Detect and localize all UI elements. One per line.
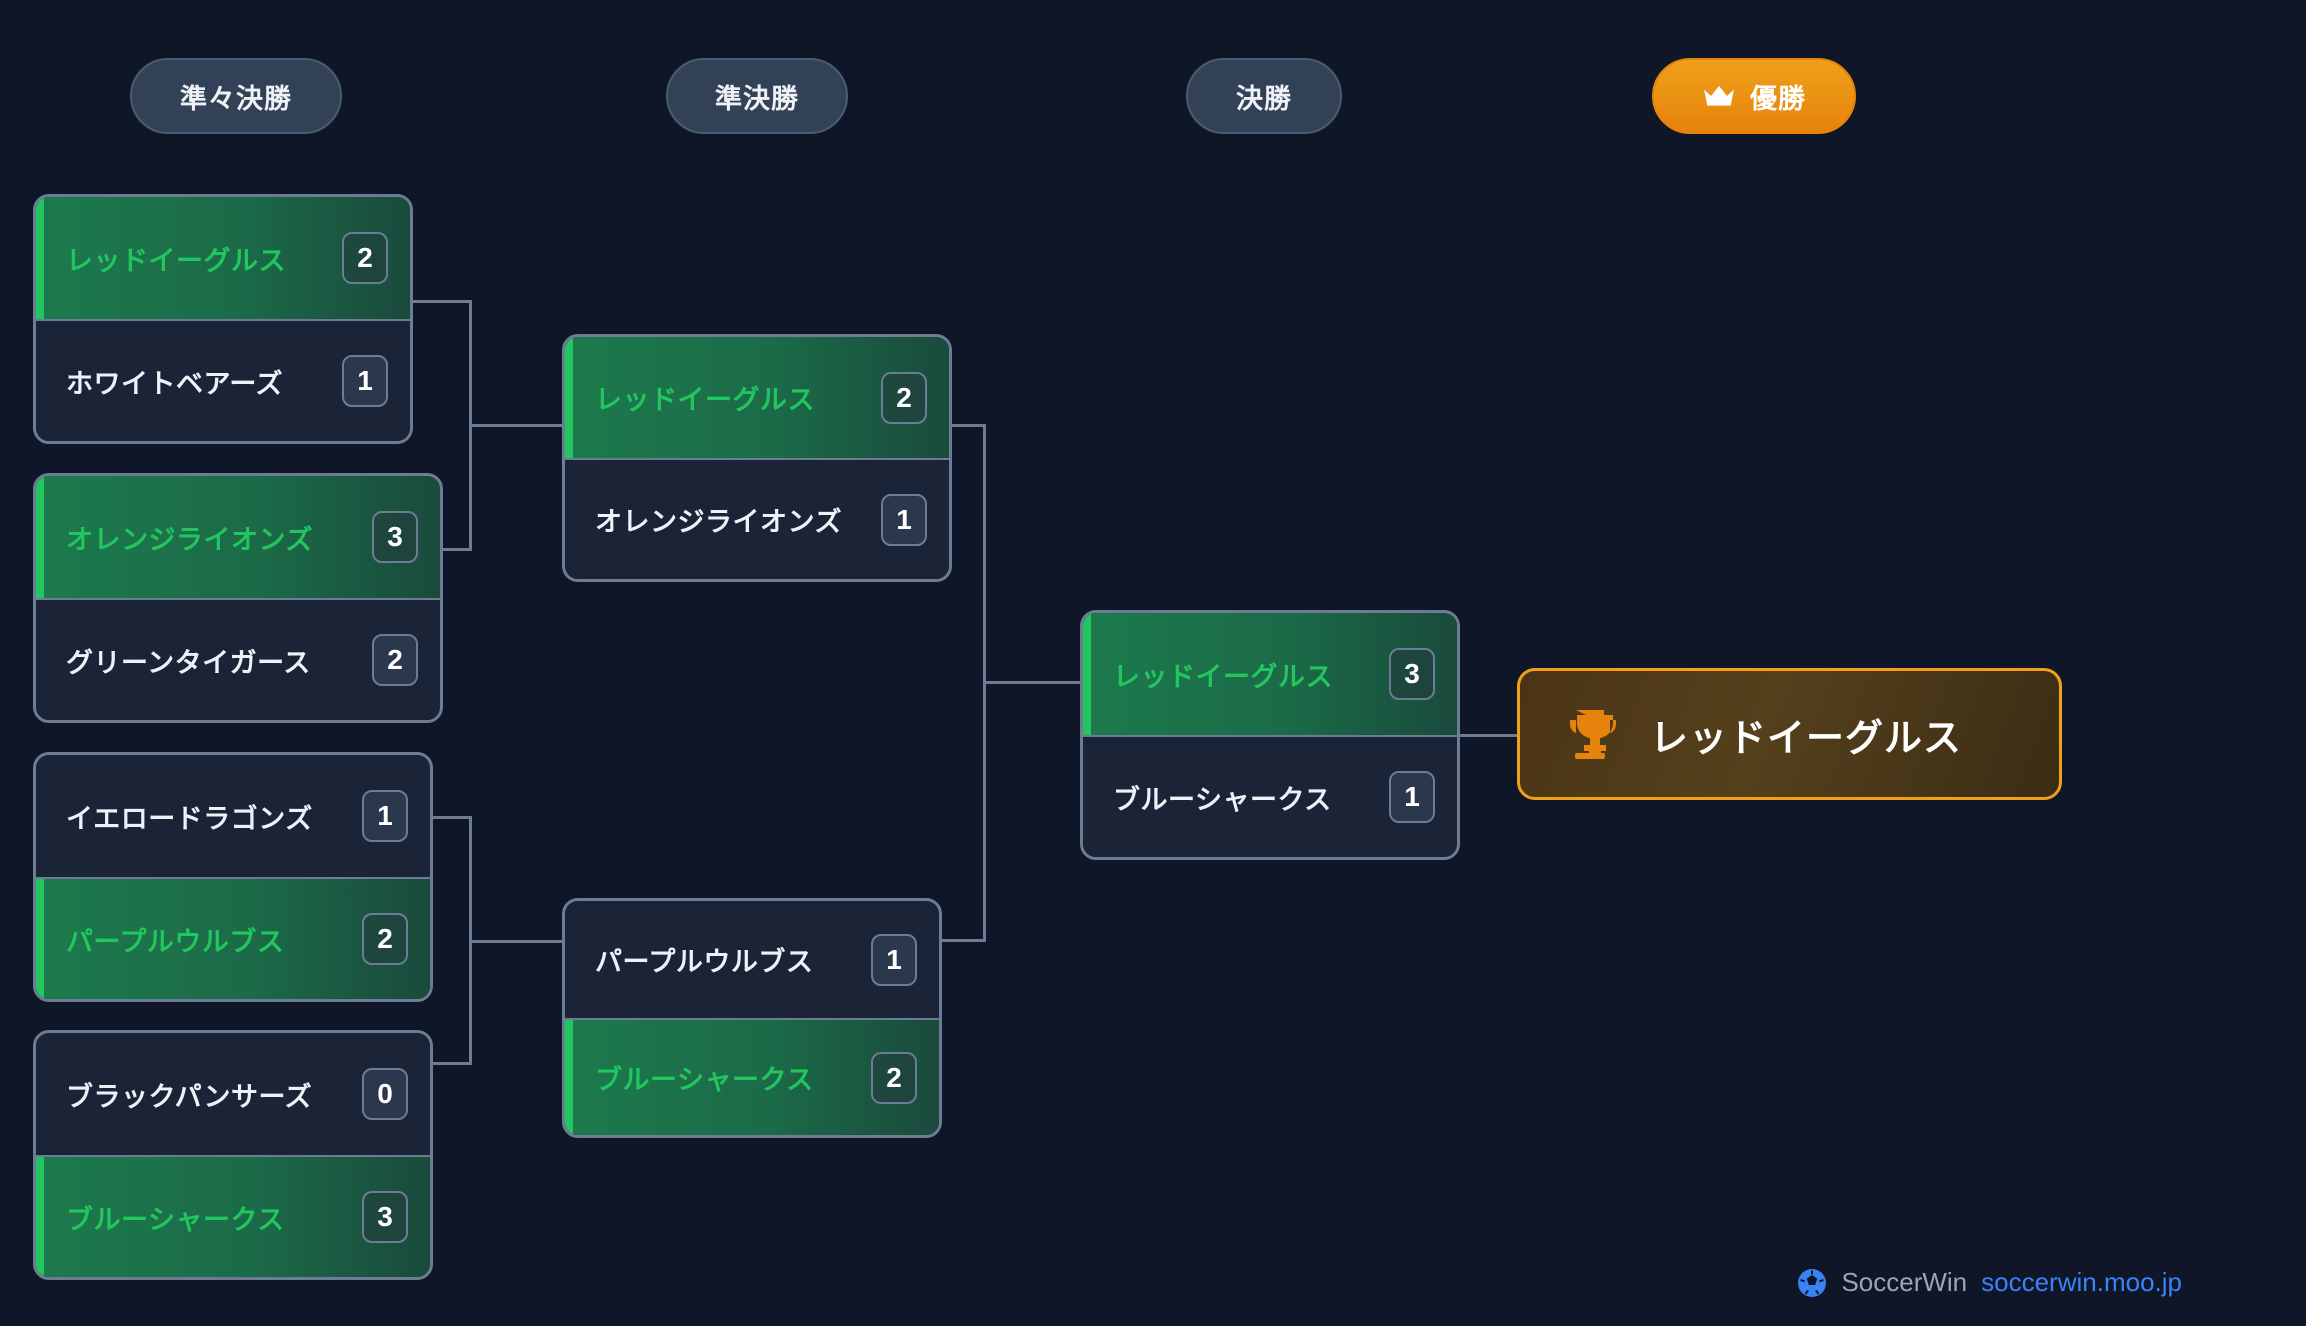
team-name: レッドイーグルス bbox=[66, 239, 286, 278]
team-name: ブルーシャークス bbox=[1113, 778, 1332, 817]
match-card[interactable]: ブラックパンサーズ 0 ブルーシャークス 3 bbox=[33, 1030, 433, 1280]
team-name: ブラックパンサーズ bbox=[66, 1075, 312, 1114]
team-name: ブルーシャークス bbox=[66, 1198, 285, 1237]
team-row[interactable]: オレンジライオンズ 3 bbox=[36, 476, 440, 598]
team-name: パープルウルブス bbox=[66, 920, 284, 959]
footer-url[interactable]: soccerwin.moo.jp bbox=[1981, 1267, 2182, 1298]
team-score: 3 bbox=[1389, 648, 1435, 700]
team-score: 0 bbox=[362, 1068, 408, 1120]
team-name: ブルーシャークス bbox=[595, 1058, 814, 1097]
team-score: 1 bbox=[362, 790, 408, 842]
team-row[interactable]: ブラックパンサーズ 0 bbox=[36, 1033, 430, 1155]
footer: SoccerWin soccerwin.moo.jp bbox=[1797, 1267, 2182, 1298]
team-score: 3 bbox=[362, 1191, 408, 1243]
team-row[interactable]: パープルウルブス 2 bbox=[36, 877, 430, 999]
team-score: 2 bbox=[871, 1052, 917, 1104]
round-header-label: 準々決勝 bbox=[180, 77, 292, 116]
trophy-icon bbox=[1564, 706, 1616, 762]
team-score: 1 bbox=[1389, 771, 1435, 823]
team-name: イエロードラゴンズ bbox=[66, 797, 313, 836]
champion-name: レッドイーグルス bbox=[1650, 707, 1962, 762]
team-row[interactable]: イエロードラゴンズ 1 bbox=[36, 755, 430, 877]
round-header-final: 決勝 bbox=[1186, 58, 1342, 134]
match-card[interactable]: レッドイーグルス 2 オレンジライオンズ 1 bbox=[562, 334, 952, 582]
team-row[interactable]: ブルーシャークス 2 bbox=[565, 1018, 939, 1135]
round-header-champion: 優勝 bbox=[1652, 58, 1856, 134]
team-score: 2 bbox=[342, 232, 388, 284]
match-card[interactable]: レッドイーグルス 3 ブルーシャークス 1 bbox=[1080, 610, 1460, 860]
team-name: レッドイーグルス bbox=[595, 378, 815, 417]
connector-line bbox=[948, 424, 986, 427]
round-header-label: 準決勝 bbox=[715, 77, 799, 116]
connector-line bbox=[983, 681, 1081, 684]
team-score: 2 bbox=[362, 913, 408, 965]
round-header-label: 優勝 bbox=[1750, 77, 1806, 116]
team-score: 2 bbox=[881, 372, 927, 424]
team-row[interactable]: グリーンタイガース 2 bbox=[36, 598, 440, 720]
team-name: オレンジライオンズ bbox=[66, 518, 313, 557]
team-score: 3 bbox=[372, 511, 418, 563]
round-header-quarterfinals: 準々決勝 bbox=[130, 58, 342, 134]
team-row[interactable]: レッドイーグルス 2 bbox=[36, 197, 410, 319]
team-row[interactable]: ホワイトベアーズ 1 bbox=[36, 319, 410, 441]
round-header-semifinals: 準決勝 bbox=[666, 58, 848, 134]
match-card[interactable]: パープルウルブス 1 ブルーシャークス 2 bbox=[562, 898, 942, 1138]
connector-line bbox=[469, 940, 565, 943]
team-name: オレンジライオンズ bbox=[595, 500, 842, 539]
team-row[interactable]: レッドイーグルス 2 bbox=[565, 337, 949, 458]
match-card[interactable]: レッドイーグルス 2 ホワイトベアーズ 1 bbox=[33, 194, 413, 444]
crown-icon bbox=[1702, 83, 1736, 109]
team-score: 2 bbox=[372, 634, 418, 686]
connector-line bbox=[469, 424, 565, 427]
team-name: グリーンタイガース bbox=[66, 641, 311, 680]
team-row[interactable]: ブルーシャークス 1 bbox=[1083, 735, 1457, 857]
champion-card[interactable]: レッドイーグルス bbox=[1517, 668, 2062, 800]
connector-line bbox=[1454, 734, 1520, 737]
team-row[interactable]: パープルウルブス 1 bbox=[565, 901, 939, 1018]
team-row[interactable]: レッドイーグルス 3 bbox=[1083, 613, 1457, 735]
team-row[interactable]: オレンジライオンズ 1 bbox=[565, 458, 949, 579]
team-name: パープルウルブス bbox=[595, 940, 813, 979]
team-name: ホワイトベアーズ bbox=[66, 362, 283, 401]
team-name: レッドイーグルス bbox=[1113, 655, 1333, 694]
footer-brand: SoccerWin bbox=[1841, 1267, 1967, 1298]
match-card[interactable]: オレンジライオンズ 3 グリーンタイガース 2 bbox=[33, 473, 443, 723]
match-card[interactable]: イエロードラゴンズ 1 パープルウルブス 2 bbox=[33, 752, 433, 1002]
soccer-ball-icon bbox=[1797, 1268, 1827, 1298]
team-score: 1 bbox=[342, 355, 388, 407]
round-header-label: 決勝 bbox=[1236, 77, 1292, 116]
tournament-bracket: 準々決勝 準決勝 決勝 優勝 レッドイーグルス 2 ホワイトベアーズ 1 bbox=[0, 0, 2306, 1326]
team-score: 1 bbox=[871, 934, 917, 986]
team-score: 1 bbox=[881, 494, 927, 546]
team-row[interactable]: ブルーシャークス 3 bbox=[36, 1155, 430, 1277]
